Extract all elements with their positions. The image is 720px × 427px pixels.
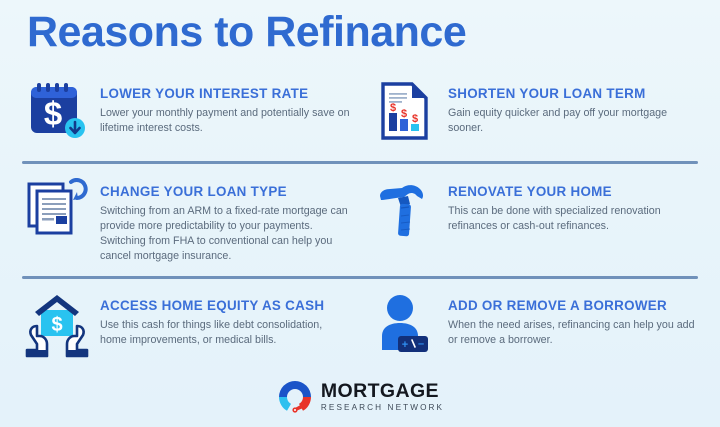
benefit-heading: LOWER YOUR INTEREST RATE bbox=[100, 87, 350, 102]
benefit-text: ADD OR REMOVE A BORROWER When the need a… bbox=[440, 290, 700, 362]
benefit-item-add-or-remove-a-borrower: + – ADD OR REMOVE A BORROWER When the ne… bbox=[370, 290, 700, 362]
benefit-body: This can be done with specialized renova… bbox=[448, 204, 700, 234]
benefit-body: When the need arises, refinancing can he… bbox=[448, 318, 700, 348]
divider-row2 bbox=[22, 276, 698, 279]
benefit-item-access-home-equity-as-cash: $ ACCESS HOME EQUITY AS CASH Use this ca… bbox=[22, 290, 352, 362]
benefit-heading: ADD OR REMOVE A BORROWER bbox=[448, 299, 700, 314]
svg-text:$: $ bbox=[390, 102, 396, 114]
calendar-dollar-down-icon: $ bbox=[22, 78, 92, 150]
svg-text:+: + bbox=[402, 339, 408, 351]
benefit-body: Gain equity quicker and pay off your mor… bbox=[448, 106, 700, 136]
page-title: Reasons to Refinance bbox=[27, 11, 466, 54]
logo-main-text: MORTGAGE bbox=[321, 382, 444, 402]
footer-logo: MORTGAGE RESEARCH NETWORK bbox=[0, 378, 720, 416]
benefit-item-lower-your-interest-rate: $ LOWER YOUR INTEREST RATE Lower your mo… bbox=[22, 78, 352, 150]
svg-text:$: $ bbox=[412, 113, 418, 125]
benefit-text: SHORTEN YOUR LOAN TERM Gain equity quick… bbox=[440, 78, 700, 150]
infographic-page: Reasons to Refinance $ LOWER YOUR I bbox=[0, 0, 720, 427]
benefit-item-renovate-your-home: RENOVATE YOUR HOME This can be done with… bbox=[370, 176, 700, 248]
svg-text:$: $ bbox=[401, 108, 407, 120]
benefit-body: Switching from an ARM to a fixed-rate mo… bbox=[100, 204, 350, 265]
benefit-heading: ACCESS HOME EQUITY AS CASH bbox=[100, 299, 350, 314]
benefit-heading: SHORTEN YOUR LOAN TERM bbox=[448, 87, 700, 102]
benefit-heading: RENOVATE YOUR HOME bbox=[448, 185, 700, 200]
benefit-body: Lower your monthly payment and potential… bbox=[100, 106, 350, 136]
svg-text:$: $ bbox=[51, 314, 62, 336]
benefit-item-change-your-loan-type: CHANGE YOUR LOAN TYPE Switching from an … bbox=[22, 176, 352, 264]
house-dollar-in-hands-icon: $ bbox=[22, 290, 92, 362]
benefit-text: RENOVATE YOUR HOME This can be done with… bbox=[440, 176, 700, 248]
benefit-body: Use this cash for things like debt conso… bbox=[100, 318, 350, 348]
benefit-text: ACCESS HOME EQUITY AS CASH Use this cash… bbox=[92, 290, 350, 362]
divider-row1 bbox=[22, 161, 698, 164]
person-plus-minus-icon: + – bbox=[370, 290, 440, 362]
svg-text:–: – bbox=[418, 338, 424, 350]
logo-wordmark: MORTGAGE RESEARCH NETWORK bbox=[321, 382, 444, 412]
benefit-heading: CHANGE YOUR LOAN TYPE bbox=[100, 185, 350, 200]
gauge-speedometer-icon bbox=[276, 378, 314, 416]
benefit-item-shorten-your-loan-term: $ $ $ SHORTEN YOUR LOAN TERM Gain equity… bbox=[370, 78, 700, 150]
logo-sub-text: RESEARCH NETWORK bbox=[321, 404, 444, 412]
hammer-icon bbox=[370, 176, 440, 248]
document-bar-chart-dollar-icon: $ $ $ bbox=[370, 78, 440, 150]
benefit-text: CHANGE YOUR LOAN TYPE Switching from an … bbox=[92, 176, 350, 264]
documents-swap-arrow-icon bbox=[22, 176, 92, 248]
svg-text:$: $ bbox=[44, 95, 62, 132]
benefit-text: LOWER YOUR INTEREST RATE Lower your mont… bbox=[92, 78, 350, 150]
